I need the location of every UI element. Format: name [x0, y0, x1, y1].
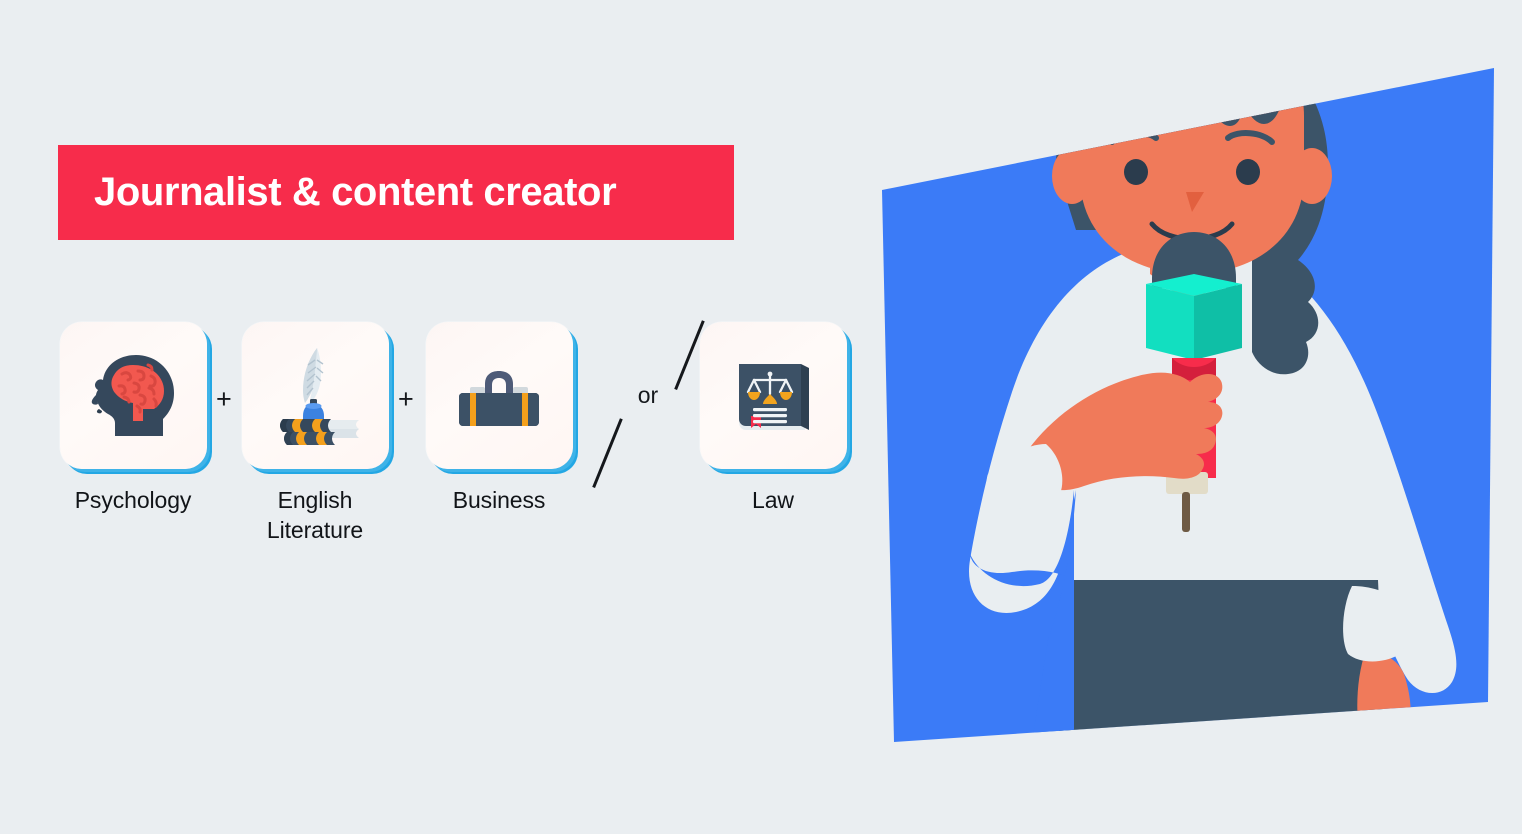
quill-books-icon	[259, 340, 371, 452]
eye-left	[1124, 159, 1148, 185]
plus-operator-2: +	[398, 386, 414, 413]
law-book-icon	[723, 346, 823, 446]
subject-combination-row: Psychology +	[0, 322, 880, 537]
subject-item-business[interactable]: Business	[424, 322, 574, 515]
english-literature-card[interactable]	[242, 322, 389, 469]
bangs	[1074, 28, 1304, 126]
or-label: or	[600, 382, 696, 409]
subject-label-psychology: Psychology	[75, 485, 192, 515]
subject-item-english-literature[interactable]: English Literature	[240, 322, 390, 546]
mic-cube-right	[1194, 284, 1242, 360]
eye-right	[1236, 159, 1260, 185]
or-separator: or	[600, 322, 696, 482]
mic-stem	[1182, 492, 1190, 532]
subject-label-law: Law	[752, 485, 794, 515]
subject-item-law[interactable]: Law	[698, 322, 848, 515]
business-card[interactable]	[426, 322, 573, 469]
psychology-card[interactable]	[60, 322, 207, 469]
brain-head-icon	[81, 343, 186, 448]
mic-cube-left	[1146, 284, 1194, 360]
subject-item-psychology[interactable]: Psychology	[58, 322, 208, 515]
slash-bottom	[592, 418, 622, 488]
english-literature-label-text: English Literature	[267, 487, 363, 543]
briefcase-icon	[445, 342, 553, 450]
title-banner: Journalist & content creator	[58, 145, 734, 240]
page-title: Journalist & content creator	[58, 170, 616, 215]
skirt	[1056, 580, 1388, 800]
journalist-illustration	[860, 20, 1522, 800]
subject-label-business: Business	[453, 485, 546, 515]
subject-label-english-literature: English Literature	[267, 485, 363, 546]
law-card[interactable]	[700, 322, 847, 469]
plus-operator-1: +	[216, 386, 232, 413]
